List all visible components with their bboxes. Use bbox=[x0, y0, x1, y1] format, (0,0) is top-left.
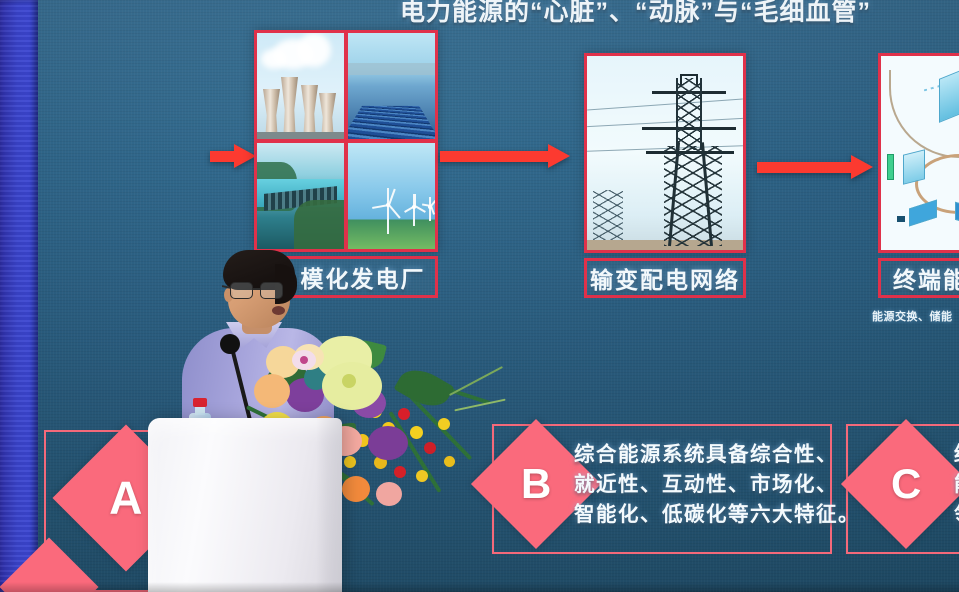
caption-terminal-subtitle: 能源交换、储能 bbox=[872, 308, 959, 324]
foreground-floor-shadow bbox=[0, 582, 959, 592]
pylon-structure bbox=[656, 78, 738, 246]
generation-photo-grid bbox=[254, 30, 438, 252]
panel-c: C 终端 能源 领域 bbox=[846, 424, 959, 554]
panel-c-text: 终端 能源 领域 bbox=[954, 440, 959, 530]
panel-a-badge-label: A bbox=[109, 475, 142, 521]
spray-flower bbox=[398, 408, 410, 420]
presenter-mouth bbox=[272, 306, 285, 315]
hydro-dam-photo bbox=[257, 143, 344, 249]
cooling-tower bbox=[263, 89, 280, 137]
solar-farm-photo bbox=[348, 33, 435, 139]
lectern bbox=[148, 418, 342, 592]
spray-flower bbox=[394, 466, 406, 478]
turbine-mast bbox=[387, 188, 389, 234]
wind-turbine bbox=[421, 197, 435, 221]
flower-center bbox=[342, 374, 356, 388]
glasses-bridge bbox=[253, 288, 260, 290]
stem bbox=[449, 366, 503, 396]
flow-arrow-1 bbox=[440, 144, 570, 168]
arrow-shaft bbox=[210, 151, 236, 162]
arrow-head bbox=[548, 144, 570, 168]
purple-stock-flower bbox=[368, 426, 408, 460]
mic-capsule bbox=[220, 334, 240, 354]
cooling-tower bbox=[301, 85, 318, 137]
cooling-tower bbox=[281, 77, 298, 137]
arrow-shaft bbox=[440, 151, 550, 162]
orchid-center bbox=[300, 356, 308, 364]
panel-c-badge-label: C bbox=[891, 463, 921, 505]
thermal-power-plant-photo bbox=[257, 33, 344, 139]
distant-pylon bbox=[593, 190, 623, 244]
wind-turbine bbox=[371, 188, 405, 234]
equipment-icon bbox=[909, 199, 937, 226]
spray-flower bbox=[424, 442, 436, 454]
flow-arrow-2 bbox=[757, 155, 875, 179]
panel-b-badge-label: B bbox=[521, 463, 551, 505]
caption-terminal: 终端能 bbox=[878, 258, 959, 298]
small-equipment-icon bbox=[897, 216, 905, 222]
pylon-lattice-upper bbox=[676, 78, 702, 150]
distant-hills bbox=[348, 63, 435, 76]
terminal-energy-diagram bbox=[878, 53, 959, 253]
lens-right bbox=[260, 282, 283, 299]
eyeglasses-icon bbox=[230, 282, 290, 300]
transmission-tower-photo bbox=[584, 53, 746, 253]
steam-plume bbox=[297, 33, 331, 67]
dam-hillside-right bbox=[294, 200, 344, 249]
battery-icon bbox=[887, 154, 894, 180]
panel-c-line-1: 终端 bbox=[954, 440, 959, 470]
wind-farm-photo bbox=[348, 143, 435, 249]
spray-flower bbox=[444, 456, 455, 467]
spray-flower bbox=[344, 456, 356, 468]
panel-b-line-3: 智能化、低碳化等六大特征。 bbox=[574, 500, 860, 530]
plant-ground bbox=[257, 132, 344, 139]
steam-plume bbox=[261, 49, 287, 69]
caption-transmission: 输变配电网络 bbox=[584, 258, 746, 298]
turbine-hub bbox=[386, 203, 390, 207]
turbine-hub bbox=[412, 205, 416, 209]
lens-left bbox=[230, 282, 253, 299]
arrow-shaft bbox=[757, 162, 853, 173]
panel-b-line-2: 就近性、互动性、市场化、 bbox=[574, 470, 860, 500]
equipment-icon bbox=[955, 202, 959, 229]
rose-flower bbox=[254, 374, 290, 408]
spray-flower bbox=[410, 426, 423, 439]
turbine-blade bbox=[388, 205, 400, 219]
screen-left-bezel bbox=[0, 0, 38, 592]
spray-flower bbox=[438, 418, 450, 430]
arrow-head bbox=[234, 144, 256, 168]
panel-b-line-1: 综合能源系统具备综合性、 bbox=[574, 440, 860, 470]
panel-c-line-3: 领域 bbox=[954, 500, 959, 530]
gerbera-flower bbox=[342, 476, 370, 502]
bottle-cap bbox=[193, 398, 207, 407]
cooling-tower bbox=[319, 93, 336, 137]
gerbera-flower bbox=[376, 482, 402, 506]
screenshot-stage: 电力能源的“心脏”、“动脉”与“毛细血管” bbox=[0, 0, 959, 592]
spray-flower bbox=[416, 470, 428, 482]
arrow-head bbox=[851, 155, 873, 179]
turbine-hub bbox=[428, 205, 432, 209]
flow-arrow-0 bbox=[210, 144, 258, 168]
terminal-cabinet-icon bbox=[903, 149, 925, 184]
solar-panel-rows bbox=[348, 106, 435, 139]
slide-title: 电力能源的“心脏”、“动脉”与“毛细血管” bbox=[400, 0, 959, 34]
panel-b: B 综合能源系统具备综合性、 就近性、互动性、市场化、 智能化、低碳化等六大特征… bbox=[492, 424, 832, 554]
panel-b-text: 综合能源系统具备综合性、 就近性、互动性、市场化、 智能化、低碳化等六大特征。 bbox=[574, 440, 860, 530]
panel-c-line-2: 能源 bbox=[954, 470, 959, 500]
